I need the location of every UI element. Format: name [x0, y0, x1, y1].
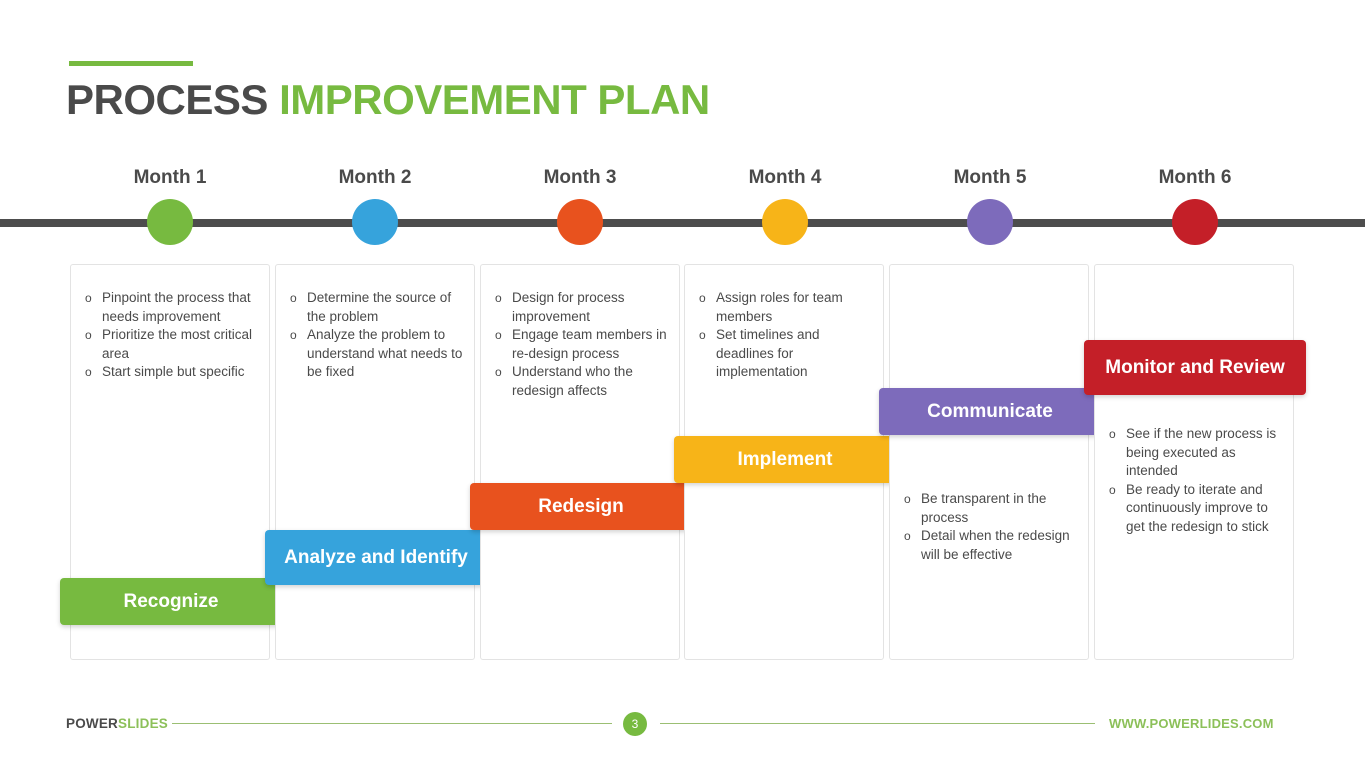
stage-label[interactable]: Communicate	[879, 388, 1101, 435]
bullet-text: Design for process improvement	[512, 289, 671, 326]
bullet-text: Set timelines and deadlines for implemen…	[716, 326, 875, 382]
bullet-item: oUnderstand who the redesign affects	[495, 363, 671, 400]
stage-bullet-list: oSee if the new process is being execute…	[1109, 425, 1285, 536]
bullet-item: oSee if the new process is being execute…	[1109, 425, 1285, 481]
page-title-part2: IMPROVEMENT PLAN	[279, 76, 710, 123]
page-title-part1: PROCESS	[66, 76, 268, 123]
bullet-circle-icon: o	[85, 326, 102, 345]
stage-label-text: Monitor and Review	[1105, 355, 1284, 380]
bullet-text: Determine the source of the problem	[307, 289, 466, 326]
bullet-circle-icon: o	[1109, 425, 1126, 444]
stage-label[interactable]: Recognize	[60, 578, 282, 625]
footer-logo: POWERSLIDES	[66, 716, 168, 731]
bullet-item: oAnalyze the problem to understand what …	[290, 326, 466, 382]
bullet-text: Detail when the redesign will be effecti…	[921, 527, 1080, 564]
timeline-month-label: Month 2	[285, 166, 465, 190]
stage-bullet-list: oDesign for process improvementoEngage t…	[495, 289, 671, 400]
bullet-circle-icon: o	[290, 326, 307, 345]
bullet-circle-icon: o	[904, 490, 921, 509]
bullet-item: oDesign for process improvement	[495, 289, 671, 326]
bullet-text: Engage team members in re-design process	[512, 326, 671, 363]
stage-label[interactable]: Implement	[674, 436, 896, 483]
bullet-text: See if the new process is being executed…	[1126, 425, 1285, 481]
stage-card: oBe transparent in the processoDetail wh…	[889, 264, 1089, 660]
footer-logo-part1: POWER	[66, 716, 118, 731]
bullet-text: Be ready to iterate and continuously imp…	[1126, 481, 1285, 537]
timeline-month-label: Month 1	[80, 166, 260, 190]
bullet-circle-icon: o	[495, 289, 512, 308]
timeline-dot-icon	[352, 199, 398, 245]
timeline-month-label: Month 5	[900, 166, 1080, 190]
bullet-text: Assign roles for team members	[716, 289, 875, 326]
stage-card: oPinpoint the process that needs improve…	[70, 264, 270, 660]
bullet-circle-icon: o	[290, 289, 307, 308]
stage-label-text: Redesign	[538, 494, 624, 519]
bullet-circle-icon: o	[495, 363, 512, 382]
timeline-node-3: Month 3	[490, 166, 670, 245]
timeline-month-label: Month 6	[1105, 166, 1285, 190]
bullet-item: oPinpoint the process that needs improve…	[85, 289, 261, 326]
bullet-item: oStart simple but specific	[85, 363, 261, 382]
timeline-dot-icon	[1172, 199, 1218, 245]
timeline-dot-icon	[762, 199, 808, 245]
bullet-item: oPrioritize the most critical area	[85, 326, 261, 363]
timeline-node-1: Month 1	[80, 166, 260, 245]
stage-cards-row: oPinpoint the process that needs improve…	[70, 264, 1295, 662]
timeline-node-6: Month 6	[1105, 166, 1285, 245]
timeline-dot-icon	[967, 199, 1013, 245]
stage-bullet-list: oBe transparent in the processoDetail wh…	[904, 490, 1080, 564]
bullet-text: Understand who the redesign affects	[512, 363, 671, 400]
bullet-text: Be transparent in the process	[921, 490, 1080, 527]
footer-url: WWW.POWERLIDES.COM	[1109, 716, 1274, 731]
bullet-circle-icon: o	[495, 326, 512, 345]
footer-rule-right	[660, 723, 1095, 724]
bullet-text: Prioritize the most critical area	[102, 326, 261, 363]
page-title: PROCESS IMPROVEMENT PLAN	[66, 72, 710, 128]
bullet-item: oDetail when the redesign will be effect…	[904, 527, 1080, 564]
bullet-circle-icon: o	[904, 527, 921, 546]
timeline-node-5: Month 5	[900, 166, 1080, 245]
bullet-text: Analyze the problem to understand what n…	[307, 326, 466, 382]
bullet-circle-icon: o	[85, 363, 102, 382]
timeline-dot-icon	[557, 199, 603, 245]
bullet-circle-icon: o	[85, 289, 102, 308]
stage-bullet-list: oDetermine the source of the problemoAna…	[290, 289, 466, 382]
stage-label[interactable]: Redesign	[470, 483, 692, 530]
timeline-node-4: Month 4	[695, 166, 875, 245]
timeline-month-label: Month 3	[490, 166, 670, 190]
bullet-circle-icon: o	[699, 289, 716, 308]
bullet-text: Start simple but specific	[102, 363, 261, 382]
bullet-circle-icon: o	[1109, 481, 1126, 500]
footer-rule-left	[172, 723, 612, 724]
bullet-item: oSet timelines and deadlines for impleme…	[699, 326, 875, 382]
stage-bullet-list: oAssign roles for team membersoSet timel…	[699, 289, 875, 382]
stage-card: oDetermine the source of the problemoAna…	[275, 264, 475, 660]
bullet-text: Pinpoint the process that needs improvem…	[102, 289, 261, 326]
stage-label[interactable]: Monitor and Review	[1084, 340, 1306, 395]
title-accent-bar	[69, 61, 193, 66]
stage-label-text: Analyze and Identify	[284, 545, 468, 570]
bullet-circle-icon: o	[699, 326, 716, 345]
bullet-item: oBe transparent in the process	[904, 490, 1080, 527]
bullet-item: oEngage team members in re-design proces…	[495, 326, 671, 363]
stage-card: oAssign roles for team membersoSet timel…	[684, 264, 884, 660]
stage-card: oDesign for process improvementoEngage t…	[480, 264, 680, 660]
stage-card: oSee if the new process is being execute…	[1094, 264, 1294, 660]
stage-label-text: Implement	[737, 447, 832, 472]
timeline-dot-icon	[147, 199, 193, 245]
page-number-badge: 3	[623, 712, 647, 736]
timeline-month-label: Month 4	[695, 166, 875, 190]
stage-label-text: Recognize	[123, 589, 218, 614]
bullet-item: oBe ready to iterate and continuously im…	[1109, 481, 1285, 537]
stage-label-text: Communicate	[927, 399, 1053, 424]
bullet-item: oAssign roles for team members	[699, 289, 875, 326]
stage-bullet-list: oPinpoint the process that needs improve…	[85, 289, 261, 382]
timeline-node-2: Month 2	[285, 166, 465, 245]
bullet-item: oDetermine the source of the problem	[290, 289, 466, 326]
stage-label[interactable]: Analyze and Identify	[265, 530, 487, 585]
footer-logo-part2: SLIDES	[118, 716, 168, 731]
